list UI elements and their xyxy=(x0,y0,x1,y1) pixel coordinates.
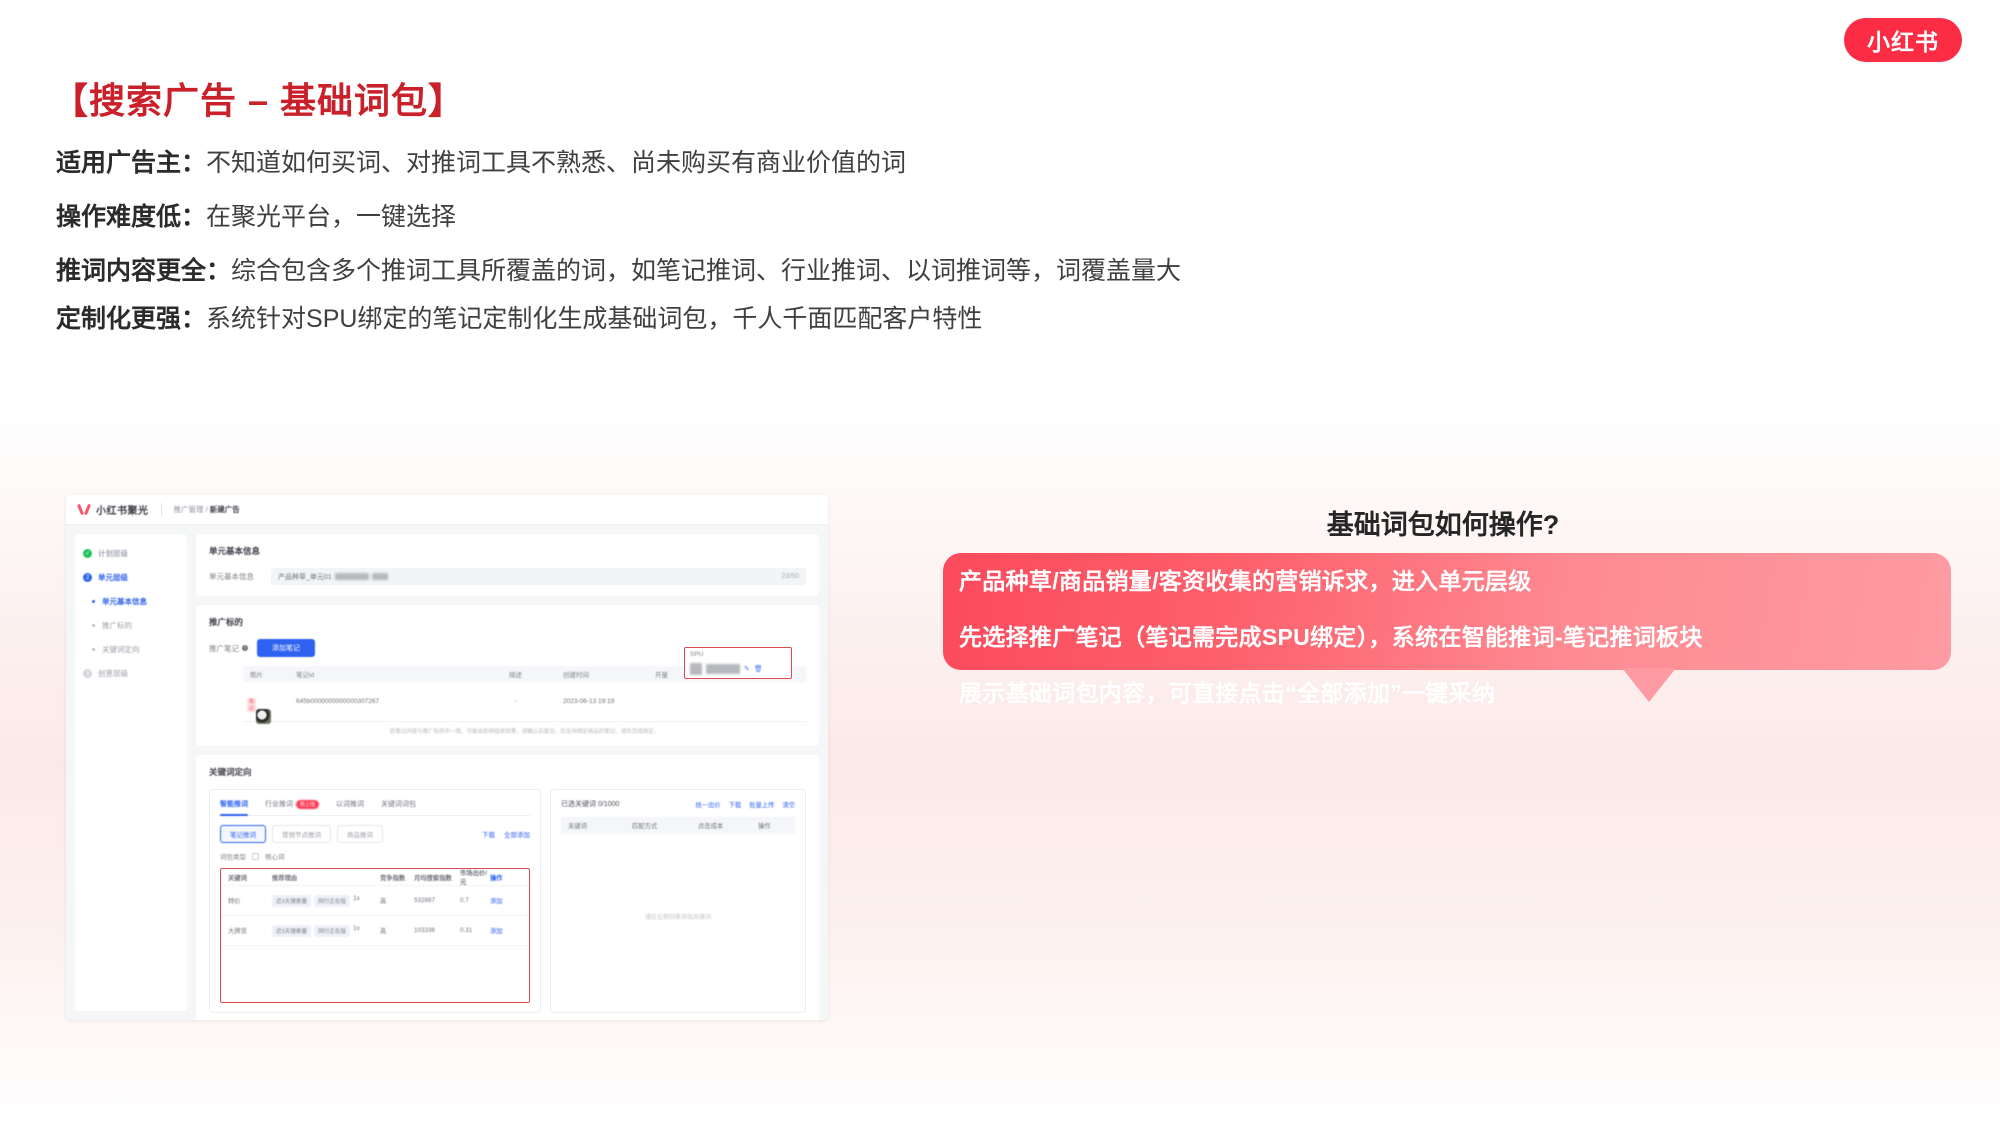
spu-highlight-overlay: SPU ✎ 🗑 xyxy=(684,647,792,679)
keyword-recommend-panel: 智能推词 行业推词 新上线 以词推词 关键词词包 xyxy=(209,789,541,1013)
juguang-logo-icon xyxy=(78,503,91,516)
sidebar-substep-unit-basic[interactable]: 单元基本信息 xyxy=(92,596,179,607)
bullet-label: 适用广告主： xyxy=(56,149,206,177)
slide-root: 小红书 【搜索广告 – 基础词包】 适用广告主：不知道如何买词、对推词工具不熟悉… xyxy=(0,0,2000,1125)
callout-line: 展示基础词包内容，可直接点击“全部添加”一键采纳 xyxy=(959,665,1937,721)
bullet-list: 适用广告主：不知道如何买词、对推词工具不熟悉、尚未购买有商业价值的词 操作难度低… xyxy=(56,148,1556,352)
keyword-filter-row: 词包类型 核心词 xyxy=(220,851,530,861)
keyword-table-header: 关键词 推荐理由 竞争指数 月均搜索指数 市场出价/元 操作 xyxy=(221,869,529,886)
tab-label: 以词推词 xyxy=(336,799,364,809)
topbar-divider xyxy=(161,503,162,516)
column-header-time: 创建时间 xyxy=(563,669,655,679)
delete-icon[interactable]: 🗑 xyxy=(754,665,763,673)
core-word-checkbox[interactable] xyxy=(252,853,259,860)
card-title: 推广标的 xyxy=(209,616,806,628)
competition-cell: 高 xyxy=(380,926,414,935)
bullet-label: 推词内容更全： xyxy=(56,257,231,285)
card-title: 单元基本信息 xyxy=(209,545,806,557)
unify-bid-link[interactable]: 统一出价 xyxy=(695,800,720,809)
clear-link[interactable]: 清空 xyxy=(782,800,795,809)
tab-smart-recommend[interactable]: 智能推词 xyxy=(220,799,248,809)
step-label: 创意层级 xyxy=(98,668,128,679)
bullet-dot-icon xyxy=(92,600,95,603)
search-index-cell: 532887 xyxy=(414,897,460,904)
callout-text-block: 产品种草/商品销量/客资收集的营销诉求，进入单元层级 先选择推广笔记（笔记需完成… xyxy=(943,553,1951,721)
keyword-actions: 下载 全部添加 xyxy=(482,829,530,839)
new-badge: 新上线 xyxy=(296,800,319,809)
spu-column-header: SPU xyxy=(690,651,786,658)
tab-label: 智能推词 xyxy=(220,799,248,809)
spu-thumb-redaction xyxy=(690,663,702,675)
reason-tag: 同行正在投 xyxy=(314,895,350,907)
unit-name-value: 产品种草_单元01 xyxy=(278,572,332,582)
download-link[interactable]: 下载 xyxy=(729,800,742,809)
sidebar-step-creative[interactable]: 3 创意层级 xyxy=(83,668,179,679)
bullet-item: 定制化更强：系统针对SPU绑定的笔记定制化生成基础词包，千人千面匹配客户特性 xyxy=(56,304,1556,334)
bullet-text: 系统针对SPU绑定的笔记定制化生成基础词包，千人千面匹配客户特性 xyxy=(206,305,982,333)
filter-option-label[interactable]: 核心词 xyxy=(265,851,285,861)
table-row: 笔记 645b0000000000000307267 - 2023-06-13 … xyxy=(243,682,806,722)
bullet-text: 综合包含多个推词工具所覆盖的词，如笔记推词、行业推词、以词推词等，词覆盖量大 xyxy=(231,257,1181,285)
breadcrumb: 推广管理 / 新建广告 xyxy=(174,504,240,515)
field-label: 推广笔记 i xyxy=(209,643,248,654)
bid-cell: 0.7 xyxy=(460,897,490,904)
bullet-item: 操作难度低：在聚光平台，一键选择 xyxy=(56,202,1556,232)
keyword-tabs: 智能推词 行业推词 新上线 以词推词 关键词词包 xyxy=(220,799,530,816)
bullet-item: 适用广告主：不知道如何买词、对推词工具不熟悉、尚未购买有商业价值的词 xyxy=(56,148,1556,178)
sidebar-substep-target[interactable]: 推广标的 xyxy=(92,620,179,631)
column-header-reason: 推荐理由 xyxy=(272,873,380,882)
keyword-cell: 特价 xyxy=(228,896,272,905)
logo-text: 小红书 xyxy=(1867,23,1939,57)
bullet-text: 不知道如何买词、对推词工具不熟悉、尚未购买有商业价值的词 xyxy=(206,149,906,177)
spu-column-highlight: SPU ✎ 🗑 xyxy=(684,647,792,679)
tab-keyword-package[interactable]: 关键词词包 xyxy=(381,799,416,809)
right-panel-title: 基础词包如何操作? xyxy=(943,503,1943,542)
info-icon[interactable]: i xyxy=(242,645,248,651)
substep-label: 推广标的 xyxy=(102,620,132,631)
xiaohongshu-logo: 小红书 xyxy=(1844,18,1962,62)
add-keyword-button[interactable]: 添加 xyxy=(490,926,516,935)
app-body: ✓ 计划层级 2 单元层级 单元基本信息 推广标的 关键词定向 xyxy=(66,525,828,1020)
column-header-desc: 描述 xyxy=(468,669,563,679)
redaction-block xyxy=(372,573,388,580)
column-header-keyword: 关键词 xyxy=(568,821,632,830)
add-keyword-button[interactable]: 添加 xyxy=(490,896,516,905)
keyword-cell: 大牌货 xyxy=(228,926,272,935)
sidebar-step-plan[interactable]: ✓ 计划层级 xyxy=(83,548,179,559)
page-title: 【搜索广告 – 基础词包】 xyxy=(52,72,465,124)
sidebar-substep-keyword[interactable]: 关键词定向 xyxy=(92,644,179,655)
keyword-table-highlight: 关键词 推荐理由 竞争指数 月均搜索指数 市场出价/元 操作 特价 xyxy=(220,868,530,1003)
bullet-dot-icon xyxy=(92,648,95,651)
bullet-text: 在聚光平台，一键选择 xyxy=(206,203,456,231)
field-label-text: 推广笔记 xyxy=(209,643,239,654)
redaction-block xyxy=(335,573,369,580)
callout-line: 先选择推广笔记（笔记需完成SPU绑定），系统在智能推词-笔记推词板块 xyxy=(959,609,1937,665)
reason-extra: 1x xyxy=(353,895,360,907)
selected-header: 已选关键词 0/1000 统一出价 下载 批量上传 清空 xyxy=(561,799,795,809)
check-icon: ✓ xyxy=(83,549,92,558)
chip-product-recommend[interactable]: 商品推词 xyxy=(337,825,383,843)
column-header-image: 图片 xyxy=(250,669,296,679)
selected-table-header: 关键词 匹配方式 点击成本 操作 xyxy=(561,817,795,834)
step-label: 单元层级 xyxy=(98,572,128,583)
note-desc-cell: - xyxy=(468,698,563,705)
chip-marketing-node-recommend[interactable]: 营销节点推词 xyxy=(272,825,331,843)
column-header-action: 操作 xyxy=(758,821,788,830)
callout-line: 产品种草/商品销量/客资收集的营销诉求，进入单元层级 xyxy=(959,553,1937,609)
unit-name-input[interactable]: 产品种草_单元01 23/50 xyxy=(271,568,806,585)
table-footer-note: 若笔记内容与推广标的不一致，可能会影响投放效果，请确认后提交。仅支持绑定商品的笔… xyxy=(243,722,806,735)
edit-icon[interactable]: ✎ xyxy=(744,665,750,673)
note-time-cell: 2023-06-13 19:19 xyxy=(563,698,655,705)
keyword-row: 大牌货 近3天搜索量 同行正在投 1x 高 103336 0.31 xyxy=(221,916,529,946)
card-title: 关键词定向 xyxy=(209,766,806,778)
column-header-note-id: 笔记id xyxy=(296,669,468,679)
bullet-dot-icon xyxy=(92,624,95,627)
batch-upload-link[interactable]: 批量上传 xyxy=(749,800,774,809)
reason-extra: 1x xyxy=(353,925,360,937)
chip-note-recommend[interactable]: 笔记推词 xyxy=(220,825,266,843)
column-header-bid: 市场出价/元 xyxy=(460,868,490,886)
spu-name-redaction xyxy=(706,664,740,674)
reason-tag: 近3天搜索量 xyxy=(272,895,311,907)
download-link[interactable]: 下载 xyxy=(482,829,495,839)
step-number-icon: 2 xyxy=(83,573,92,582)
substep-label: 单元基本信息 xyxy=(102,596,147,607)
bid-cell: 0.31 xyxy=(460,927,490,934)
bullet-label: 定制化更强： xyxy=(56,305,206,333)
selected-actions: 统一出价 下载 批量上传 清空 xyxy=(695,800,795,809)
keyword-subtabs: 笔记推词 营销节点推词 商品推词 下载 全部添加 xyxy=(220,825,530,843)
reason-cell: 近3天搜索量 同行正在投 1x xyxy=(272,925,380,937)
filter-label: 词包类型 xyxy=(220,851,246,861)
step-number-icon: 3 xyxy=(83,669,92,678)
field-label: 单元基本信息 xyxy=(209,571,261,582)
column-header-keyword: 关键词 xyxy=(228,873,272,882)
app-topbar: 小红书聚光 推广管理 / 新建广告 xyxy=(66,495,828,525)
unit-name-field-row: 单元基本信息 产品种草_单元01 23/50 xyxy=(209,568,806,585)
selected-keyword-panel: 已选关键词 0/1000 统一出价 下载 批量上传 清空 关键词 xyxy=(550,789,806,1013)
keyword-row: 特价 近3天搜索量 同行正在投 1x 高 532887 0.7 xyxy=(221,886,529,916)
tab-industry-recommend[interactable]: 行业推词 新上线 xyxy=(265,799,319,809)
thumbnail-badge: 笔记 xyxy=(247,698,256,712)
unit-basic-info-card: 单元基本信息 单元基本信息 产品种草_单元01 23/50 xyxy=(196,534,819,596)
step-sidebar: ✓ 计划层级 2 单元层级 单元基本信息 推广标的 关键词定向 xyxy=(75,534,187,1011)
product-screenshot: 小红书聚光 推广管理 / 新建广告 ✓ 计划层级 2 单元层级 单元基本信息 xyxy=(66,495,828,1020)
step-label: 计划层级 xyxy=(98,548,128,559)
sidebar-step-unit[interactable]: 2 单元层级 xyxy=(83,572,179,583)
app-main: 单元基本信息 单元基本信息 产品种草_单元01 23/50 xyxy=(196,534,819,1011)
column-header-match-type: 匹配方式 xyxy=(632,821,698,830)
reason-cell: 近3天搜索量 同行正在投 1x xyxy=(272,895,380,907)
note-id-cell: 645b0000000000000307267 xyxy=(296,698,468,705)
keyword-table-spacer xyxy=(221,946,529,1002)
bullet-label: 操作难度低： xyxy=(56,203,206,231)
keyword-panels: 智能推词 行业推词 新上线 以词推词 关键词词包 xyxy=(209,789,806,1013)
search-index-cell: 103336 xyxy=(414,927,460,934)
add-all-link[interactable]: 全部添加 xyxy=(504,829,530,839)
column-header-action: 操作 xyxy=(490,873,516,882)
substep-label: 关键词定向 xyxy=(102,644,140,655)
breadcrumb-current: 新建广告 xyxy=(210,505,240,514)
competition-cell: 高 xyxy=(380,896,414,905)
add-note-button[interactable]: 添加笔记 xyxy=(257,639,315,657)
reason-tag: 近3天搜索量 xyxy=(272,925,311,937)
keyword-targeting-card: 关键词定向 智能推词 行业推词 新上线 xyxy=(196,755,819,1020)
tab-label: 行业推词 xyxy=(265,799,293,809)
breadcrumb-parent[interactable]: 推广管理 xyxy=(174,505,204,514)
app-brand-name: 小红书聚光 xyxy=(96,502,149,517)
spu-value-row: ✎ 🗑 xyxy=(690,663,786,675)
reason-tag: 同行正在投 xyxy=(314,925,350,937)
tab-label: 关键词词包 xyxy=(381,799,416,809)
field-value-wrap: 产品种草_单元01 xyxy=(278,572,388,582)
column-header-search-index: 月均搜索指数 xyxy=(414,873,460,882)
column-header-competition: 竞争指数 xyxy=(380,873,414,882)
tab-word-to-word[interactable]: 以词推词 xyxy=(336,799,364,809)
bullet-item: 推词内容更全：综合包含多个推词工具所覆盖的词，如笔记推词、行业推词、以词推词等，… xyxy=(56,256,1556,286)
column-header-click-cost: 点击成本 xyxy=(698,821,758,830)
empty-state-text: 请在左侧列表添加关键词 xyxy=(561,834,795,921)
char-counter: 23/50 xyxy=(781,573,799,580)
selected-count-title: 已选关键词 0/1000 xyxy=(561,799,619,809)
